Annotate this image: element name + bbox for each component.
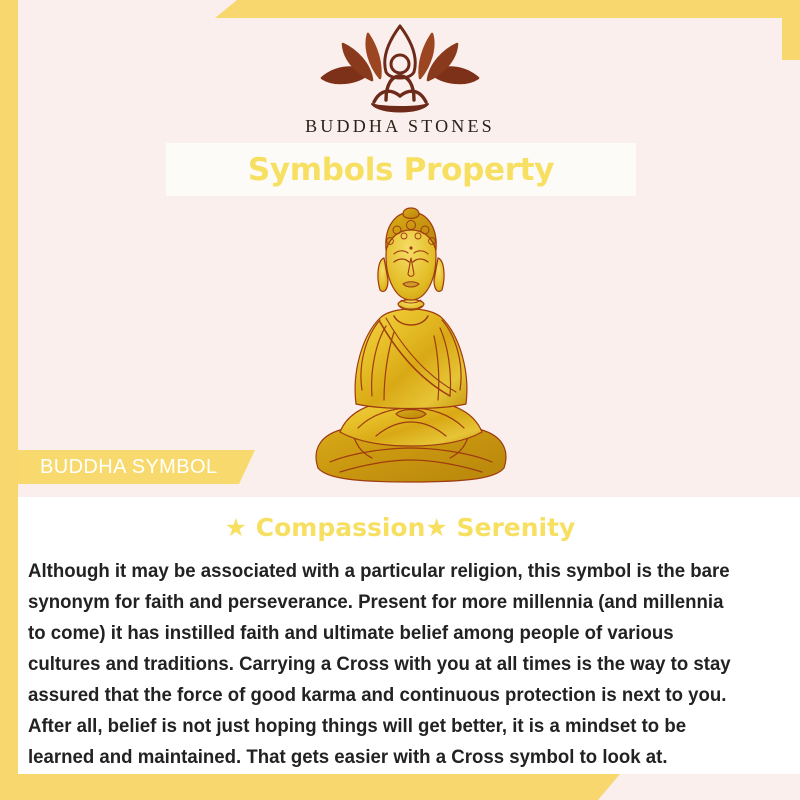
frame-bar-bottom bbox=[0, 774, 620, 800]
brand-logo: BUDDHA STONES bbox=[0, 22, 800, 137]
lotus-meditation-icon bbox=[310, 22, 490, 114]
page-root: BUDDHA STONES Symbols Property bbox=[0, 0, 800, 800]
frame-bar-top bbox=[215, 0, 800, 18]
content-heading: ★ Compassion★ Serenity bbox=[0, 513, 800, 542]
section-ribbon-label: BUDDHA SYMBOL bbox=[18, 456, 217, 479]
content-paragraph: Although it may be associated with a par… bbox=[28, 556, 742, 773]
section-ribbon: BUDDHA SYMBOL bbox=[18, 450, 255, 484]
page-title-band: Symbols Property bbox=[166, 143, 636, 196]
page-title: Symbols Property bbox=[248, 152, 554, 188]
golden-seated-buddha-statue-icon bbox=[300, 200, 522, 490]
brand-name: BUDDHA STONES bbox=[0, 116, 800, 137]
buddha-statue-image bbox=[300, 200, 522, 490]
